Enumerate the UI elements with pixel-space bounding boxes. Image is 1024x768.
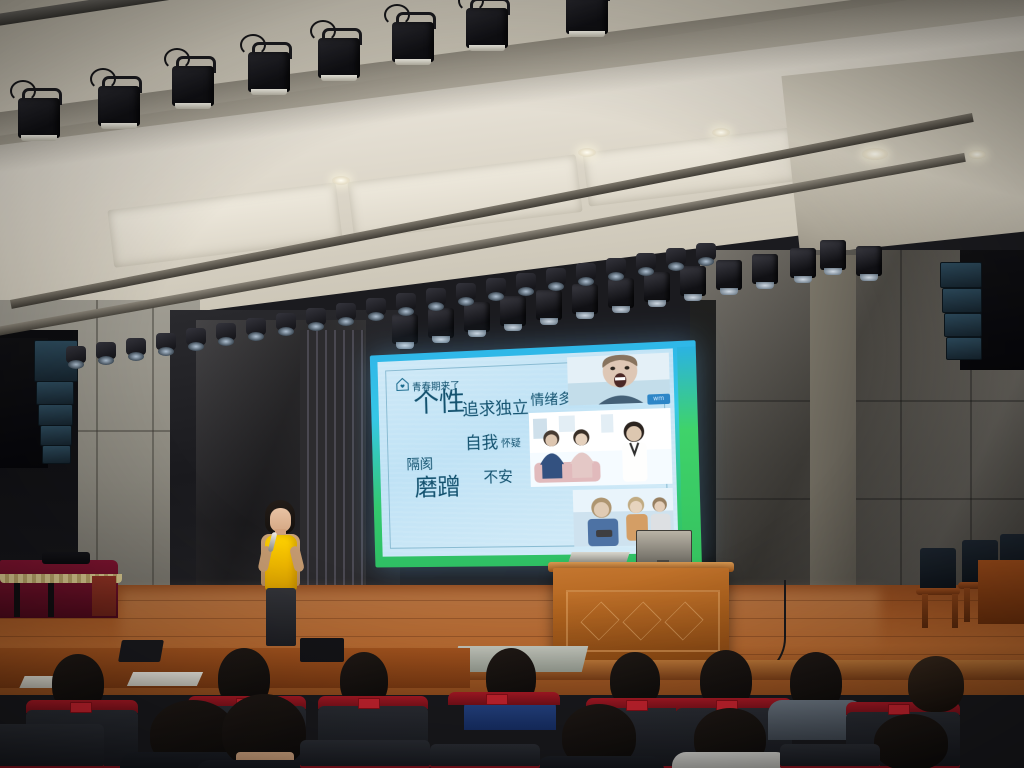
seat-number-plate <box>626 700 648 711</box>
par-can-light-icon <box>396 293 416 310</box>
moving-head-light-icon <box>790 248 816 278</box>
line-array-module <box>36 381 74 405</box>
house-heart-icon <box>395 376 411 392</box>
par-can-light-icon <box>336 303 356 320</box>
par-can-light-icon <box>66 346 86 363</box>
ceiling-downlight-icon <box>332 176 350 185</box>
par-can-light-icon <box>636 253 656 270</box>
piano-leg <box>14 583 20 617</box>
moving-head-light-icon <box>392 314 418 344</box>
floor-plank <box>0 618 1024 619</box>
line-array-module <box>942 288 982 313</box>
moving-head-light-icon <box>608 278 634 308</box>
par-can-light-icon <box>186 328 206 345</box>
audience-area <box>0 648 1024 768</box>
line-array-module <box>940 262 982 288</box>
par-can-light-icon <box>666 248 686 265</box>
slide-keyword-self-doubt: 怀疑 <box>501 434 521 450</box>
moving-head-light-icon <box>820 240 846 270</box>
par-can-light-icon <box>426 288 446 305</box>
par-can-light-icon <box>306 308 326 325</box>
par-can-light-icon <box>576 263 596 280</box>
par-can-light-icon <box>606 258 626 275</box>
moving-head-light-icon <box>856 246 882 276</box>
slide-keyword-self: 自我 <box>465 428 499 454</box>
ceiling-downlight-icon <box>712 128 730 137</box>
slide-canvas: 青春期来了 个性 隔阂 磨蹭 追求独立 自我 怀疑 不安 情绪多变 冲动失控 冷… <box>377 348 678 556</box>
slide-keyword-anxiety: 不安 <box>483 465 513 487</box>
podium-diamond-carving <box>580 601 619 640</box>
moving-head-light-icon <box>680 266 706 296</box>
marble-grid-line <box>900 250 902 590</box>
par-can-light-icon <box>546 268 566 285</box>
par-can-light-icon <box>366 298 386 315</box>
audience-shoulders <box>672 752 790 768</box>
ceiling-downlight-icon <box>578 148 596 157</box>
podium-front-panel <box>566 590 720 652</box>
line-array-module <box>38 404 73 426</box>
podium-diamond-carving <box>664 601 703 640</box>
piano-leg <box>48 583 54 617</box>
ceiling-downlight-icon <box>968 150 986 159</box>
floor-plank <box>0 600 1024 601</box>
presenter-skirt <box>266 588 296 646</box>
ceiling-downlight-icon <box>862 148 888 160</box>
par-can-light-icon <box>156 333 176 350</box>
family-with-teen-photo <box>529 408 673 487</box>
par-can-light-icon <box>216 323 236 340</box>
par-can-light-icon <box>246 318 266 335</box>
line-array-module <box>40 425 72 446</box>
moving-head-light-icon <box>428 308 454 338</box>
slide-keyword-estrangement: 隔阂 <box>406 454 433 474</box>
audience-shoulders <box>536 756 664 768</box>
line-array-module <box>946 337 982 360</box>
par-can-light-icon <box>516 273 536 290</box>
par-can-light-icon <box>696 243 716 260</box>
par-can-light-icon <box>96 342 116 359</box>
slide-keyword-dawdling: 磨蹭 <box>414 473 455 501</box>
seat-number-plate <box>358 698 380 709</box>
podium-diamond-carving <box>622 601 661 640</box>
line-array-module <box>944 313 982 337</box>
auditorium-seat[interactable] <box>780 744 880 768</box>
line-array-module <box>42 445 71 464</box>
slide-keyword-personality: 个性 <box>413 388 452 419</box>
slide-keyword-pursue-independence: 追求独立 <box>462 393 529 420</box>
stage-wall-column <box>810 255 856 585</box>
par-can-light-icon <box>126 338 146 355</box>
seat-number-plate <box>486 694 508 705</box>
slide-watermark-badge: wm <box>647 394 670 405</box>
auditorium-seat[interactable] <box>430 744 540 768</box>
podium-monitor <box>636 530 692 564</box>
presenter <box>248 500 312 650</box>
moving-head-light-icon <box>716 260 742 290</box>
par-can-light-icon <box>456 283 476 300</box>
auditorium-photo: 青春期来了 个性 隔阂 磨蹭 追求独立 自我 怀疑 不安 情绪多变 冲动失控 冷… <box>0 0 1024 768</box>
moving-head-light-icon <box>464 302 490 332</box>
moving-head-light-icon <box>572 284 598 314</box>
moving-head-light-icon <box>500 296 526 326</box>
par-can-light-icon <box>276 313 296 330</box>
seat-number-plate <box>70 702 92 713</box>
stage-side-table <box>978 560 1024 624</box>
audience-head <box>908 656 964 712</box>
floor-plank <box>0 636 1024 637</box>
moving-head-light-icon <box>536 290 562 320</box>
audience-head <box>874 714 948 768</box>
piano-bench <box>92 576 116 616</box>
moving-head-light-icon <box>644 272 670 302</box>
piano-lid <box>42 552 90 564</box>
marble-grid-line <box>700 498 1024 500</box>
wall-seam <box>152 300 154 600</box>
marble-grid-line <box>700 400 1024 402</box>
auditorium-seat[interactable] <box>300 740 430 768</box>
auditorium-seat[interactable] <box>0 724 104 768</box>
moving-head-light-icon <box>752 254 778 284</box>
par-can-light-icon <box>486 278 506 295</box>
